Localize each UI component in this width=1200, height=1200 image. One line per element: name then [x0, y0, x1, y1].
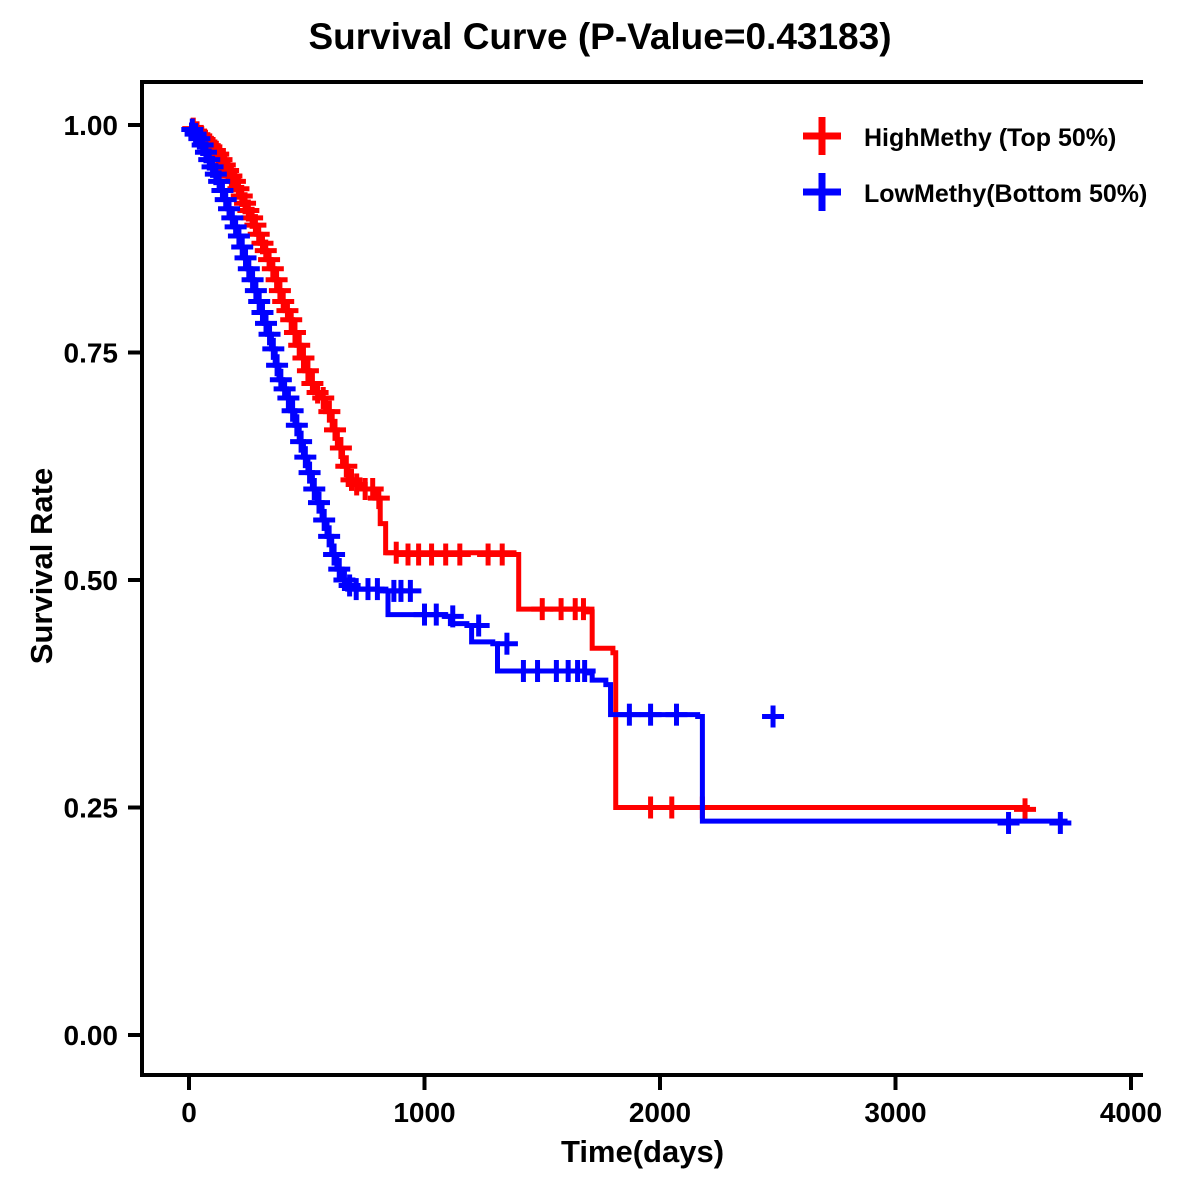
series-low-methy	[181, 119, 1071, 834]
legend: HighMethy (Top 50%)LowMethy(Bottom 50%)	[803, 117, 1147, 211]
x-tick-label: 3000	[864, 1097, 926, 1128]
legend-label: HighMethy (Top 50%)	[864, 124, 1116, 152]
x-tick-label: 1000	[393, 1097, 455, 1128]
x-axis-ticks: 01000200030004000	[181, 1075, 1162, 1128]
y-tick-label: 0.00	[64, 1020, 119, 1051]
survival-curves	[181, 118, 1071, 834]
plot-canvas: 0.000.250.500.751.00 01000200030004000 H…	[0, 0, 1200, 1200]
axis-frame	[142, 82, 1143, 1075]
y-tick-label: 0.25	[64, 793, 119, 824]
x-tick-label: 2000	[629, 1097, 691, 1128]
legend-item[interactable]: HighMethy (Top 50%)	[803, 117, 1116, 155]
legend-item[interactable]: LowMethy(Bottom 50%)	[803, 173, 1147, 211]
plot-border	[142, 82, 1143, 1075]
x-tick-label: 0	[181, 1097, 197, 1128]
survival-curve-figure: Survival Curve (P-Value=0.43183) Surviva…	[0, 0, 1200, 1200]
x-tick-label: 4000	[1100, 1097, 1162, 1128]
legend-label: LowMethy(Bottom 50%)	[864, 180, 1147, 208]
y-tick-label: 0.75	[64, 338, 119, 369]
y-axis-ticks: 0.000.250.500.751.00	[64, 110, 143, 1051]
y-tick-label: 1.00	[64, 110, 119, 141]
y-tick-label: 0.50	[64, 565, 119, 596]
